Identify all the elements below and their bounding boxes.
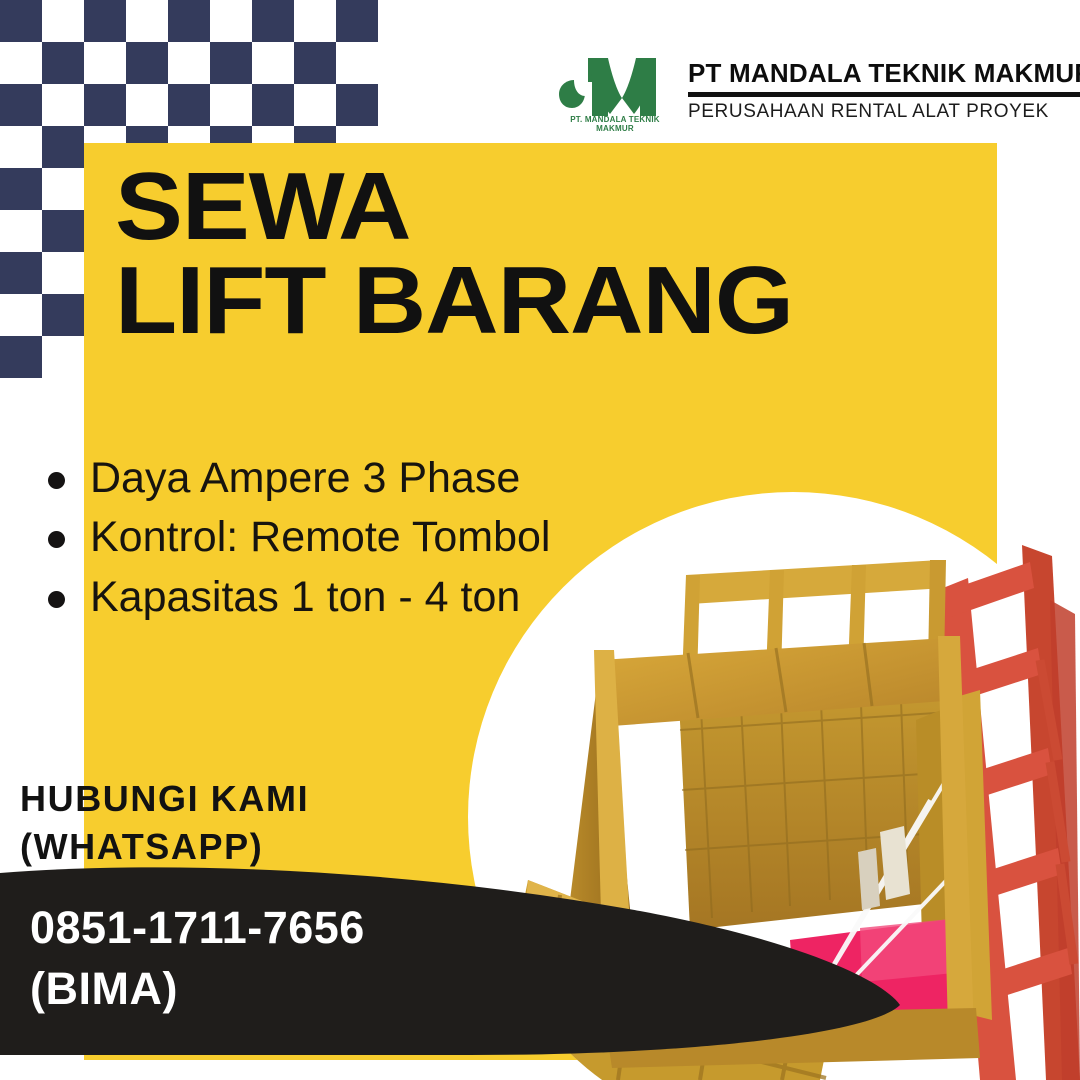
contact-heading: HUBUNGI KAMI (WHATSAPP) [20,775,309,870]
page-title: SEWA LIFT BARANG [115,160,755,348]
feature-item: Daya Ampere 3 Phase [40,452,680,505]
checker-cell [294,42,336,84]
checker-cell [168,0,210,42]
contact-person: (BIMA) [30,959,365,1020]
checker-cell [252,84,294,126]
headline-line-1: SEWA [115,160,793,254]
checker-cell [336,84,378,126]
checker-cell [42,210,84,252]
checker-cell [0,336,42,378]
feature-item-label: Daya Ampere 3 Phase [90,454,520,502]
phone-number-block[interactable]: 0851-1711-7656 (BIMA) [30,898,365,1020]
checker-cell [42,126,84,168]
feature-item: Kontrol: Remote Tombol [40,511,680,564]
checker-cell [252,0,294,42]
headline-line-2: LIFT BARANG [115,254,793,348]
feature-item: Kapasitas 1 ton - 4 ton [40,571,680,624]
contact-heading-line-2: (WHATSAPP) [20,823,309,871]
contact-heading-line-1: HUBUNGI KAMI [20,775,309,823]
checker-cell [84,0,126,42]
bullet-dot-icon [48,472,65,489]
checker-cell [336,0,378,42]
checker-cell [0,84,42,126]
green-m-monogram-icon [552,52,678,124]
checker-cell [0,168,42,210]
checker-cell [0,0,42,42]
checker-cell [210,42,252,84]
checker-cell [42,294,84,336]
brand-header: PT. MANDALA TEKNIK MAKMUR PT MANDALA TEK… [552,52,1080,132]
company-tagline: PERUSAHAAN RENTAL ALAT PROYEK [688,101,1080,123]
checker-cell [84,84,126,126]
feature-item-label: Kontrol: Remote Tombol [90,513,551,561]
poster-canvas: PT. MANDALA TEKNIK MAKMUR PT MANDALA TEK… [0,0,1080,1080]
logo-caption: PT. MANDALA TEKNIK MAKMUR [552,115,678,133]
checker-cell [42,42,84,84]
feature-item-label: Kapasitas 1 ton - 4 ton [90,573,520,621]
company-name: PT MANDALA TEKNIK MAKMUR [688,58,1080,89]
bullet-dot-icon [48,531,65,548]
checker-cell [0,252,42,294]
bullet-dot-icon [48,591,65,608]
phone-number[interactable]: 0851-1711-7656 [30,898,365,959]
brand-divider [688,92,1080,97]
checker-cell [168,84,210,126]
feature-list: Daya Ampere 3 PhaseKontrol: Remote Tombo… [40,452,680,630]
logo-mark: PT. MANDALA TEKNIK MAKMUR [552,52,678,132]
checker-cell [126,42,168,84]
